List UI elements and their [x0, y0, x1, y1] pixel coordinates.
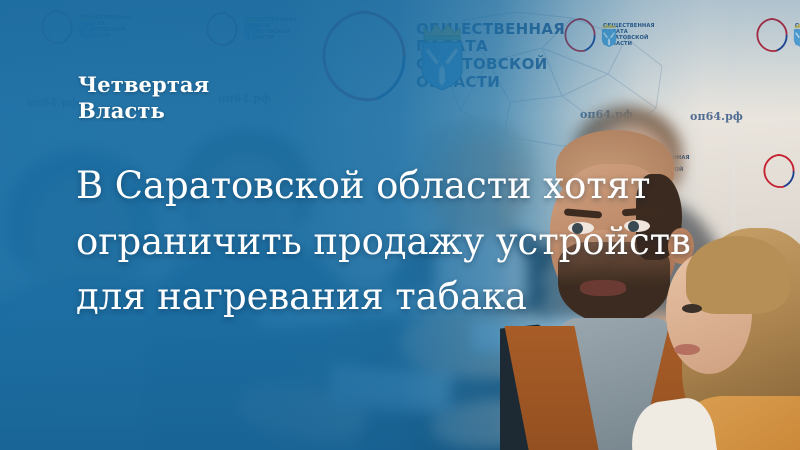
site-logo-wordmark[interactable]: Четвертая Власть	[78, 72, 209, 125]
article-headline: В Саратовской области хотят ограничить п…	[76, 158, 696, 325]
woman-lips	[674, 344, 700, 355]
woman-fringe	[686, 236, 790, 314]
site-logo-line-2: Власть	[78, 98, 209, 124]
site-logo-line-1: Четвертая	[78, 72, 209, 98]
news-share-card: ОБЩЕСТВЕННАЯ ПАЛАТА САРАТОВСКОЙ ОБЛАСТИ	[0, 0, 800, 450]
